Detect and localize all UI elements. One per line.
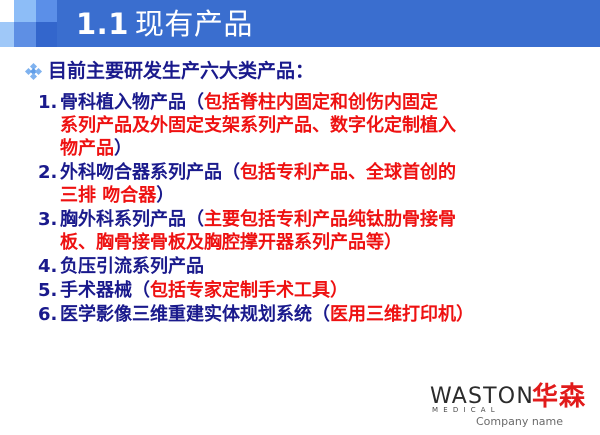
text-run: 医用三维打印机） (330, 304, 474, 325)
list-item-line: 手术器械（包括专家定制手术工具） (60, 279, 348, 302)
text-run: 包括脊柱内固定和创伤内固定 (204, 92, 438, 113)
product-list-item: 1.骨科植入物产品（包括脊柱内固定和创伤内固定系列产品及外固定支架系列产品、数字… (38, 91, 568, 160)
text-run: 负压引流系列产品 (60, 256, 204, 277)
list-item-line: 骨科植入物产品（包括脊柱内固定和创伤内固定 (60, 91, 456, 114)
title-decoration-block-1 (0, 0, 14, 22)
list-item-text: 手术器械（包括专家定制手术工具） (60, 279, 348, 302)
list-item-marker: 1. (38, 91, 60, 114)
product-list-item: 5.手术器械（包括专家定制手术工具） (38, 279, 568, 302)
text-run: 包括专利产品、全球首创的 (240, 162, 456, 183)
text-run: 三排 吻合器 (60, 185, 156, 206)
text-run: 物产品 (60, 138, 114, 159)
list-item-line: 系列产品及外固定支架系列产品、数字化定制植入 (60, 114, 456, 137)
diamond-bullet-icon (26, 64, 41, 79)
list-item-text: 胸外科系列产品（主要包括专利产品纯钛肋骨接骨板、胸骨接骨板及胸腔撑开器系列产品等… (60, 208, 456, 254)
list-item-marker: 4. (38, 255, 60, 278)
list-item-line: 外科吻合器系列产品（包括专利产品、全球首创的 (60, 161, 456, 184)
list-item-line: 板、胸骨接骨板及胸腔撑开器系列产品等） (60, 231, 456, 254)
text-run: 手术器械（ (60, 280, 150, 301)
list-item-marker: 2. (38, 161, 60, 184)
bullet-heading: 目前主要研发生产六大类产品： (26, 58, 314, 84)
text-run: 外科吻合器系列产品（ (60, 162, 240, 183)
text-run: 板、胸骨接骨板及胸腔撑开器系列产品等） (60, 232, 402, 253)
slide-body: 目前主要研发生产六大类产品： 1.骨科植入物产品（包括脊柱内固定和创伤内固定系列… (0, 47, 600, 377)
list-item-marker: 5. (38, 279, 60, 302)
list-item-line: 医学影像三维重建实体规划系统（医用三维打印机） (60, 303, 474, 326)
company-logo: WASTON MEDICAL 华森 Company name (428, 382, 594, 430)
text-run: 主要包括专利产品纯钛肋骨接骨 (204, 209, 456, 230)
text-run: 系列产品及外固定支架系列产品、数字化定制植入 (60, 115, 456, 136)
list-item-line: 负压引流系列产品 (60, 255, 204, 278)
list-item-text: 外科吻合器系列产品（包括专利产品、全球首创的三排 吻合器） (60, 161, 456, 207)
page-title-label: 现有产品 (135, 7, 253, 41)
product-list-item: 3.胸外科系列产品（主要包括专利产品纯钛肋骨接骨板、胸骨接骨板及胸腔撑开器系列产… (38, 208, 568, 254)
title-decoration-block-5 (14, 22, 36, 47)
list-item-text: 负压引流系列产品 (60, 255, 204, 278)
bullet-heading-text: 目前主要研发生产六大类产品： (48, 58, 314, 84)
list-item-text: 医学影像三维重建实体规划系统（医用三维打印机） (60, 303, 474, 326)
title-decoration-block-3 (36, 0, 57, 22)
product-list-item: 2.外科吻合器系列产品（包括专利产品、全球首创的三排 吻合器） (38, 161, 568, 207)
text-run: 包括专家定制手术工具） (150, 280, 348, 301)
text-run: ） (156, 185, 174, 206)
slide-title-bar: 1.1现有产品 (0, 0, 600, 47)
list-item-line: 胸外科系列产品（主要包括专利产品纯钛肋骨接骨 (60, 208, 456, 231)
company-name-text: Company name (476, 415, 563, 428)
list-item-marker: 3. (38, 208, 60, 231)
product-list-item: 6.医学影像三维重建实体规划系统（医用三维打印机） (38, 303, 568, 326)
title-decoration-block-6 (36, 22, 57, 47)
product-list-item: 4.负压引流系列产品 (38, 255, 568, 278)
list-item-line: 物产品） (60, 137, 456, 160)
product-list: 1.骨科植入物产品（包括脊柱内固定和创伤内固定系列产品及外固定支架系列产品、数字… (38, 91, 568, 327)
list-item-line: 三排 吻合器） (60, 184, 456, 207)
text-run: 医学影像三维重建实体规划系统（ (60, 304, 330, 325)
page-title: 1.1现有产品 (76, 4, 253, 44)
list-item-text: 骨科植入物产品（包括脊柱内固定和创伤内固定系列产品及外固定支架系列产品、数字化定… (60, 91, 456, 160)
text-run: 骨科植入物产品（ (60, 92, 204, 113)
title-decoration-block-2 (14, 0, 36, 22)
text-run: ） (114, 138, 132, 159)
page-title-number: 1.1 (76, 7, 129, 41)
text-run: 胸外科系列产品（ (60, 209, 204, 230)
logo-chinese-text: 华森 (532, 382, 586, 412)
list-item-marker: 6. (38, 303, 60, 326)
title-decoration-block-4 (0, 22, 14, 47)
logo-subtitle-text: MEDICAL (432, 406, 500, 414)
